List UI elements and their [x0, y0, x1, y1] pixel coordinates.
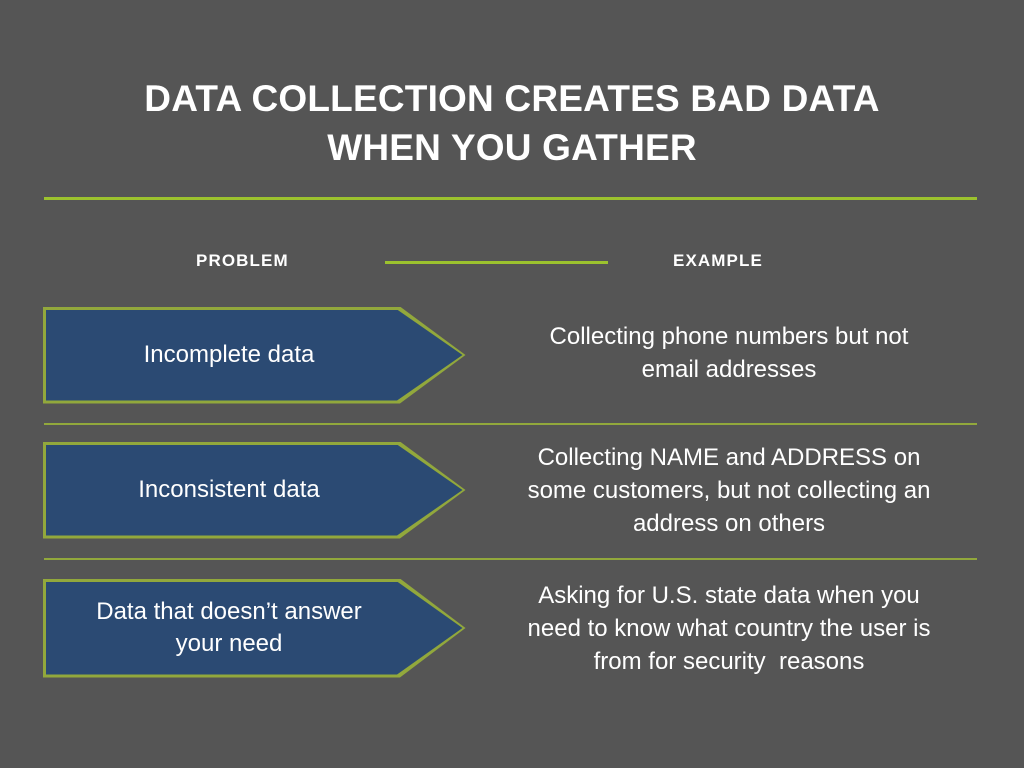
- column-header-problem: PROBLEM: [196, 251, 289, 271]
- slide-title-line-2: WHEN YOU GATHER: [44, 123, 980, 172]
- example-text-3: Asking for U.S. state data when you need…: [478, 580, 980, 676]
- example-line: Asking for U.S. state data when you: [538, 579, 920, 612]
- example-line: some customers, but not collecting an: [528, 474, 931, 507]
- problem-text-3-line-2: your need: [96, 628, 362, 660]
- header-separator-rule: [385, 261, 608, 264]
- example-line: Collecting NAME and ADDRESS on: [538, 441, 921, 474]
- slide-canvas: DATA COLLECTION CREATES BAD DATA WHEN YO…: [0, 0, 1024, 768]
- problem-text-3-line-1: Data that doesn’t answer: [96, 596, 362, 628]
- title-underline-rule: [44, 197, 977, 200]
- example-line: email addresses: [642, 353, 817, 386]
- problem-text-2: Inconsistent data: [138, 474, 319, 506]
- table-row: Data that doesn’t answer your need Askin…: [0, 580, 1024, 676]
- slide-title-line-1: DATA COLLECTION CREATES BAD DATA: [44, 74, 980, 123]
- row-divider-1: [44, 423, 977, 425]
- problem-label-3: Data that doesn’t answer your need: [44, 580, 414, 676]
- problem-label-2: Inconsistent data: [44, 443, 414, 537]
- table-row: Inconsistent data Collecting NAME and AD…: [0, 443, 1024, 537]
- table-row: Incomplete data Collecting phone numbers…: [0, 308, 1024, 402]
- column-header-example: EXAMPLE: [673, 251, 763, 271]
- problem-text-1: Incomplete data: [144, 339, 315, 371]
- example-text-1: Collecting phone numbers but not email a…: [478, 308, 980, 402]
- problem-label-1: Incomplete data: [44, 308, 414, 402]
- example-line: need to know what country the user is: [528, 612, 931, 645]
- example-line: address on others: [633, 507, 825, 540]
- example-line: Collecting phone numbers but not: [550, 320, 909, 353]
- example-text-2: Collecting NAME and ADDRESS on some cust…: [478, 443, 980, 537]
- slide-title: DATA COLLECTION CREATES BAD DATA WHEN YO…: [44, 74, 980, 172]
- row-divider-2: [44, 558, 977, 560]
- example-line: from for security reasons: [594, 645, 865, 678]
